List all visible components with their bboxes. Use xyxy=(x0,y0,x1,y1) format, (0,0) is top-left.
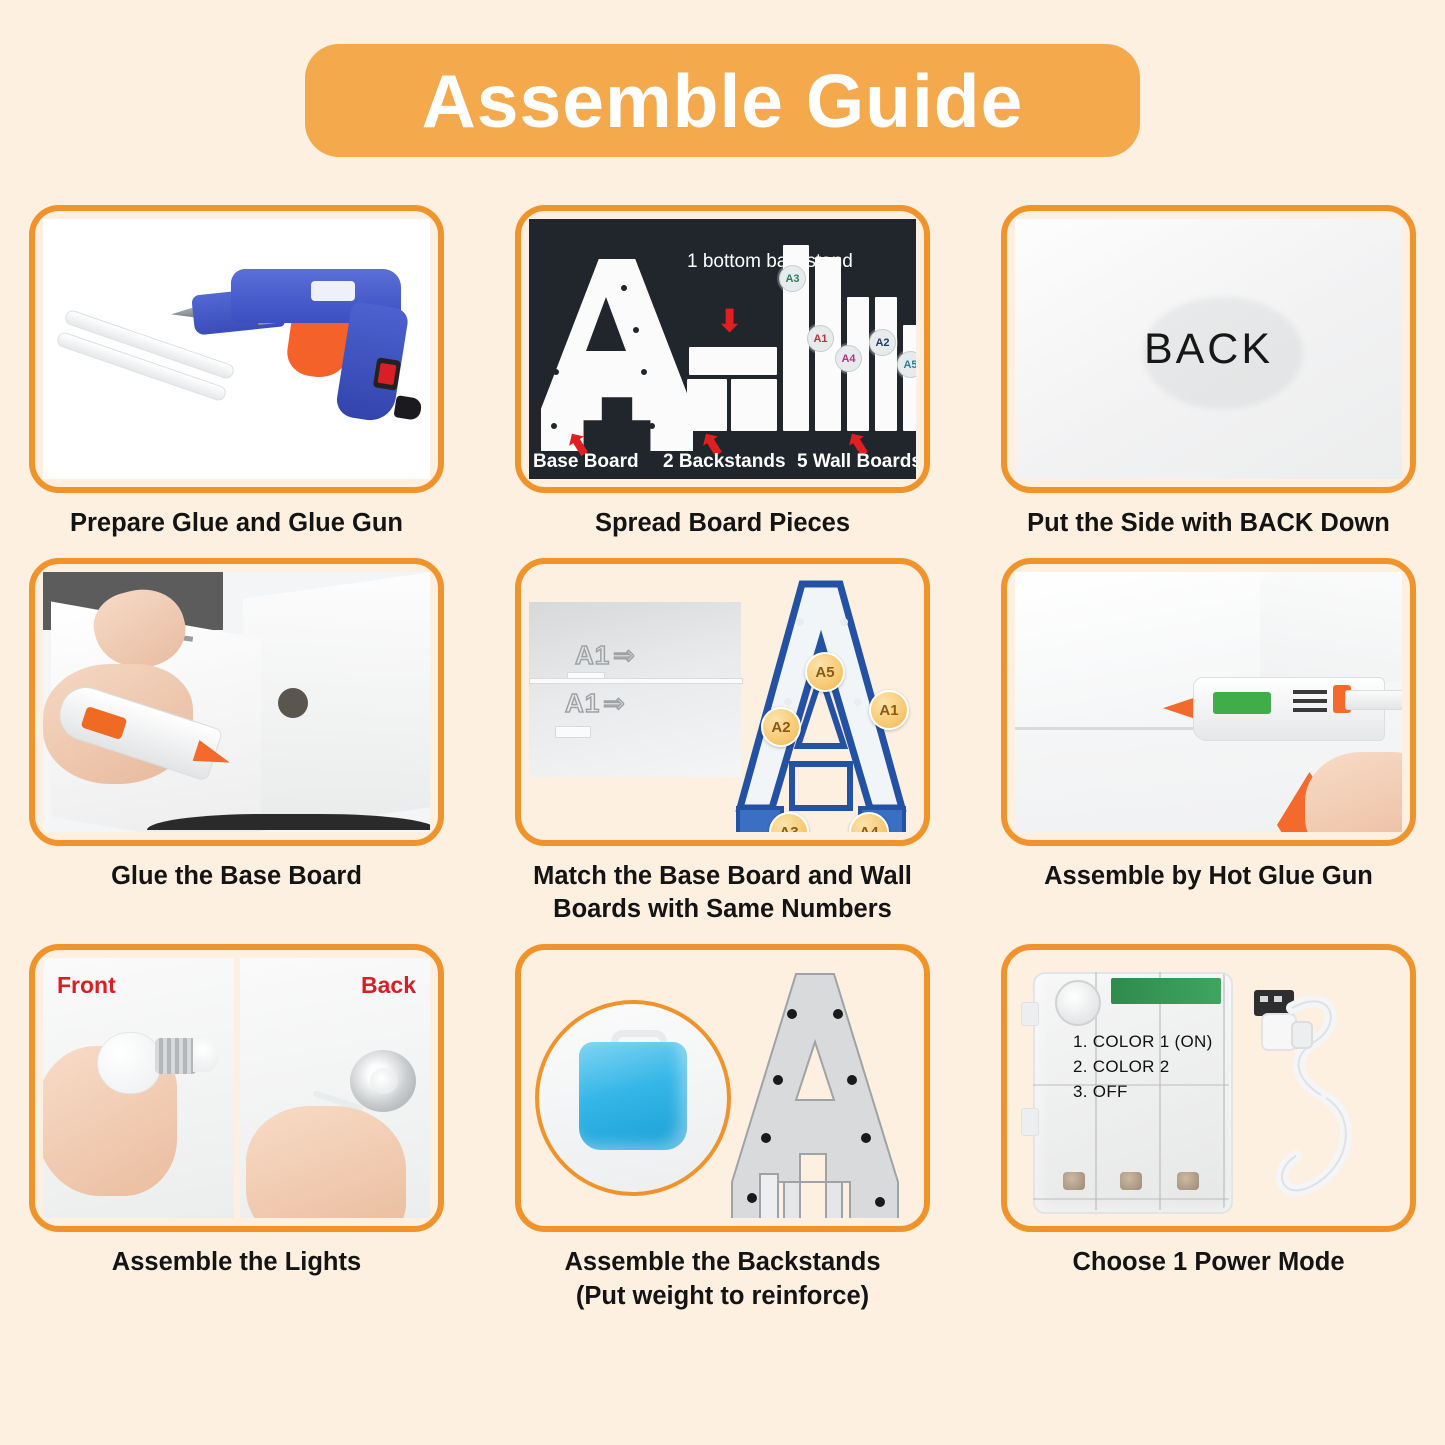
backstands-photo xyxy=(529,958,916,1218)
step-image-frame-8 xyxy=(515,944,930,1232)
step-card-4: Glue the Base Board xyxy=(24,558,449,926)
power-mode-option-2: 2. COLOR 2 xyxy=(1073,1055,1213,1080)
front-label: Front xyxy=(57,972,116,999)
board-badge-a5: A5 xyxy=(897,351,916,378)
back-label: Back xyxy=(361,972,416,999)
bulb-screw-base-icon xyxy=(155,1038,197,1074)
steps-grid: Prepare Glue and Glue Gun xyxy=(0,205,1445,1331)
battery-cell-icon xyxy=(1120,1172,1142,1190)
step-caption-8-line-2: (Put weight to reinforce) xyxy=(564,1280,880,1313)
emboss-label-a1-top: A1 xyxy=(575,640,610,671)
hand-holding-glue-gun xyxy=(1305,752,1402,832)
lights-photos: Front Back xyxy=(43,958,430,1218)
step-caption-8: Assemble the Backstands (Put weight to r… xyxy=(564,1246,880,1312)
step-card-9: 1. COLOR 1 (ON) 2. COLOR 2 3. OFF xyxy=(996,944,1421,1312)
back-board-photo: BACK xyxy=(1015,219,1402,479)
step-caption-5: Match the Base Board and Wall Boards wit… xyxy=(513,860,933,926)
base-board-letter-a-icon xyxy=(541,259,693,451)
battery-box-clip-icon xyxy=(1021,1108,1039,1136)
step-caption-1: Prepare Glue and Glue Gun xyxy=(70,507,403,540)
step-card-5: A1 ⇒ A1 ⇒ xyxy=(510,558,935,926)
glue-gun-window-icon xyxy=(311,281,355,301)
embossed-board-photo: A1 ⇒ A1 ⇒ xyxy=(529,602,741,777)
step-image-frame-9: 1. COLOR 1 (ON) 2. COLOR 2 3. OFF xyxy=(1001,944,1416,1232)
steps-row-1: Prepare Glue and Glue Gun xyxy=(0,205,1445,540)
bulb-glass-icon xyxy=(97,1032,161,1094)
water-bag-inset xyxy=(535,1000,731,1196)
bulb-hole-dot xyxy=(641,369,647,375)
step-card-1: Prepare Glue and Glue Gun xyxy=(24,205,449,540)
battery-box-clip-icon xyxy=(1021,1002,1039,1026)
battery-cell-icon xyxy=(1177,1172,1199,1190)
board-badge-a2: A2 xyxy=(869,329,896,356)
board-badge-a1: A1 xyxy=(807,325,834,352)
water-bag-icon xyxy=(579,1042,687,1150)
battery-cells xyxy=(1045,1166,1217,1196)
match-numbers-photo: A1 ⇒ A1 ⇒ xyxy=(529,572,916,832)
bulb-hole-dot xyxy=(571,285,577,291)
red-arrow-down-icon: ⬇ xyxy=(717,307,742,337)
letter-badge-a5: A5 xyxy=(805,652,845,692)
diagram-label-base-board: Base Board xyxy=(533,451,639,473)
power-mode-list: 1. COLOR 1 (ON) 2. COLOR 2 3. OFF xyxy=(1073,1030,1213,1104)
step-image-frame-2: 1 bottom backstand ⬇ A3 A1 A4 A2 xyxy=(515,205,930,493)
backstand-board-piece xyxy=(689,347,777,375)
wall-board-piece xyxy=(903,325,916,431)
bulb-hole-dot xyxy=(633,327,639,333)
power-mode-option-3: 3. OFF xyxy=(1073,1080,1213,1105)
bulb-hole-dot xyxy=(561,327,567,333)
step-card-2: 1 bottom backstand ⬇ A3 A1 A4 A2 xyxy=(510,205,935,540)
page-title: Assemble Guide xyxy=(422,58,1024,144)
step-caption-2: Spread Board Pieces xyxy=(595,507,850,540)
front-bulb-photo: Front xyxy=(43,958,234,1218)
bulb-hole-dot xyxy=(551,423,557,429)
power-mode-option-1: 1. COLOR 1 (ON) xyxy=(1073,1030,1213,1055)
board-seam xyxy=(529,678,743,684)
bulb-hole-dot xyxy=(649,423,655,429)
diagram-label-wall-boards: 5 Wall Boards xyxy=(797,451,916,473)
power-mode-photo: 1. COLOR 1 (ON) 2. COLOR 2 3. OFF xyxy=(1015,958,1402,1218)
battery-cell-icon xyxy=(1063,1172,1085,1190)
bulb-tip-icon xyxy=(193,1038,219,1072)
step-image-frame-4 xyxy=(29,558,444,846)
glue-stick-icon xyxy=(1345,690,1402,710)
step-image-frame-5: A1 ⇒ A1 ⇒ xyxy=(515,558,930,846)
step-image-frame-3: BACK xyxy=(1001,205,1416,493)
board-badge-a4: A4 xyxy=(835,345,862,372)
white-board-right xyxy=(243,572,430,832)
step-card-3: BACK Put the Side with BACK Down xyxy=(996,205,1421,540)
board-pieces-diagram: 1 bottom backstand ⬇ A3 A1 A4 A2 xyxy=(529,219,916,479)
step-caption-8-line-1: Assemble the Backstands xyxy=(564,1246,880,1279)
step-image-frame-7: Front Back xyxy=(29,944,444,1232)
letter-a-with-backstands-icon xyxy=(722,968,912,1218)
backstand-board-piece xyxy=(731,379,777,431)
step-caption-9: Choose 1 Power Mode xyxy=(1072,1246,1344,1279)
battery-box-circuit-icon xyxy=(1111,978,1221,1004)
step-caption-3: Put the Side with BACK Down xyxy=(1027,507,1390,540)
glue-gun-brand-label xyxy=(1213,692,1271,714)
bulb-hole-dot xyxy=(621,285,627,291)
glue-gun-vents-icon xyxy=(1293,690,1327,716)
hand-installing-socket xyxy=(246,1106,406,1218)
dark-base-shadow xyxy=(147,814,430,830)
board-tab xyxy=(555,726,591,738)
glue-gun-photo xyxy=(43,219,430,479)
usb-cable-icon xyxy=(1240,980,1390,1215)
letter-badge-a2: A2 xyxy=(761,707,801,747)
emboss-arrow-right-icon: ⇒ xyxy=(603,688,625,719)
step-image-frame-6 xyxy=(1001,558,1416,846)
page-title-banner: Assemble Guide xyxy=(305,44,1140,157)
step-card-8: Assemble the Backstands (Put weight to r… xyxy=(510,944,935,1312)
glue-gun-power-switch-icon xyxy=(373,357,401,390)
back-bulb-photo: Back xyxy=(240,958,431,1218)
step-caption-4: Glue the Base Board xyxy=(111,860,362,893)
backstand-board-piece xyxy=(687,379,727,431)
back-board-text: BACK xyxy=(1144,325,1273,374)
letter-badge-a1: A1 xyxy=(869,690,909,730)
steps-row-2: Glue the Base Board A1 ⇒ A1 ⇒ xyxy=(0,558,1445,926)
step-image-frame-1 xyxy=(29,205,444,493)
step-caption-7: Assemble the Lights xyxy=(112,1246,361,1279)
step-caption-6: Assemble by Hot Glue Gun xyxy=(1044,860,1373,893)
step-card-6: Assemble by Hot Glue Gun xyxy=(996,558,1421,926)
hot-glue-gun-photo xyxy=(1015,572,1402,832)
bulb-hole-dot xyxy=(553,369,559,375)
emboss-arrow-right-icon: ⇒ xyxy=(613,640,635,671)
glue-gun-cord-cap-icon xyxy=(393,395,422,421)
emboss-label-a1-bottom: A1 xyxy=(565,688,600,719)
bulb-hole-icon xyxy=(278,688,308,718)
step-card-7: Front Back Assemble the Light xyxy=(24,944,449,1312)
board-badge-a3: A3 xyxy=(779,265,806,292)
wall-board-piece xyxy=(875,297,897,431)
diagram-label-backstands: 2 Backstands xyxy=(663,451,786,473)
glue-base-board-photo xyxy=(43,572,430,832)
steps-row-3: Front Back Assemble the Light xyxy=(0,944,1445,1312)
